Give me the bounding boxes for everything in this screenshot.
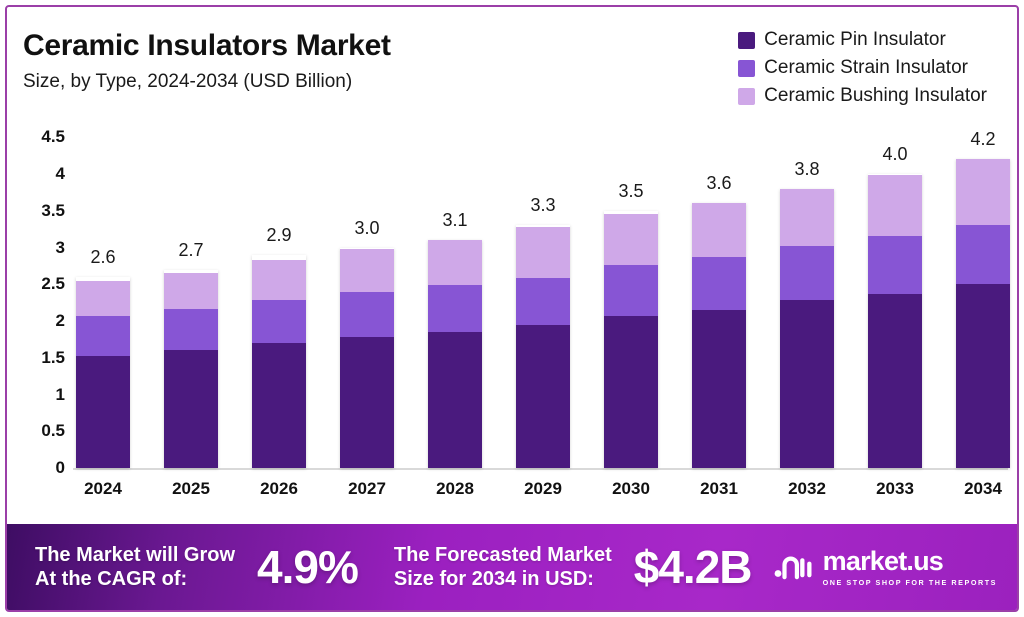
y-axis-tick-label: 4	[9, 164, 65, 184]
bar-total-label: 3.8	[794, 159, 819, 180]
cagr-caption: The Market will Grow At the CAGR of:	[35, 543, 235, 592]
bar-total-label: 4.2	[970, 129, 995, 150]
bar-segment-ceramic-bushing-insulator[interactable]	[428, 240, 482, 285]
bar-segment-ceramic-bushing-insulator[interactable]	[164, 273, 218, 308]
footer-banner: The Market will Grow At the CAGR of: 4.9…	[7, 524, 1017, 610]
legend-item-label: Ceramic Pin Insulator	[764, 29, 946, 51]
bar-total-label: 2.6	[90, 247, 115, 268]
bar-stack[interactable]	[252, 255, 306, 468]
cagr-caption-line2: At the CAGR of:	[35, 567, 235, 591]
bar-total-label: 3.1	[442, 210, 467, 231]
x-axis-tick-label: 2024	[73, 479, 133, 513]
x-axis-tick-label: 2034	[953, 479, 1013, 513]
bar-segment-ceramic-bushing-insulator[interactable]	[780, 189, 834, 246]
market-us-logo[interactable]: market.us ONE STOP SHOP FOR THE REPORTS	[774, 548, 997, 587]
x-axis-tick-label: 2025	[161, 479, 221, 513]
bar-segment-ceramic-strain-insulator[interactable]	[604, 265, 658, 316]
cagr-value: 4.9%	[257, 540, 358, 594]
bar-segment-ceramic-pin-insulator[interactable]	[76, 356, 130, 468]
bar-segment-ceramic-strain-insulator[interactable]	[252, 300, 306, 343]
x-axis-tick-label: 2026	[249, 479, 309, 513]
bar-total-label: 2.9	[266, 225, 291, 246]
bar-stack[interactable]	[868, 174, 922, 468]
bar-segment-ceramic-pin-insulator[interactable]	[780, 300, 834, 468]
bar-segment-ceramic-bushing-insulator[interactable]	[956, 159, 1010, 225]
chart-header: Ceramic Insulators Market Size, by Type,…	[7, 7, 1017, 135]
bar-segment-ceramic-pin-insulator[interactable]	[516, 325, 570, 468]
cagr-caption-line1: The Market will Grow	[35, 543, 235, 567]
bar-segment-ceramic-bushing-insulator[interactable]	[76, 281, 130, 316]
bar-column-2034[interactable]: 4.2	[953, 135, 1013, 468]
y-axis-tick-label: 2	[9, 311, 65, 331]
y-axis-tick-label: 3	[9, 238, 65, 258]
bar-stack[interactable]	[780, 189, 834, 468]
x-axis-line	[73, 468, 1008, 470]
forecast-value: $4.2B	[634, 540, 752, 594]
bar-stack[interactable]	[956, 159, 1010, 468]
bar-stack[interactable]	[164, 270, 218, 468]
bar-segment-ceramic-strain-insulator[interactable]	[692, 257, 746, 310]
y-axis-tick-label: 4.5	[9, 127, 65, 147]
bar-column-2024[interactable]: 2.6	[73, 135, 133, 468]
y-axis-tick-label: 0	[9, 458, 65, 478]
bar-segment-ceramic-pin-insulator[interactable]	[340, 337, 394, 468]
legend-swatch-icon	[738, 88, 755, 105]
bar-total-label: 3.3	[530, 195, 555, 216]
y-axis-tick-label: 0.5	[9, 421, 65, 441]
bar-segment-ceramic-pin-insulator[interactable]	[956, 284, 1010, 468]
bar-column-2029[interactable]: 3.3	[513, 135, 573, 468]
bar-segment-ceramic-pin-insulator[interactable]	[692, 310, 746, 468]
legend-item-label: Ceramic Bushing Insulator	[764, 85, 987, 107]
bar-column-2033[interactable]: 4.0	[865, 135, 925, 468]
bar-segment-ceramic-bushing-insulator[interactable]	[868, 175, 922, 236]
bar-column-2028[interactable]: 3.1	[425, 135, 485, 468]
bar-total-label: 3.0	[354, 218, 379, 239]
bar-segment-ceramic-bushing-insulator[interactable]	[604, 214, 658, 265]
bar-stack[interactable]	[428, 240, 482, 468]
bar-column-2030[interactable]: 3.5	[601, 135, 661, 468]
legend-item-0[interactable]: Ceramic Pin Insulator	[738, 29, 987, 51]
forecast-block: The Forecasted Market Size for 2034 in U…	[394, 540, 752, 594]
bar-stack[interactable]	[516, 225, 570, 468]
legend-swatch-icon	[738, 60, 755, 77]
chart-plot-area: 4.543.532.521.510.50 2.62.72.93.03.13.33…	[7, 135, 1019, 525]
bar-segment-ceramic-strain-insulator[interactable]	[76, 316, 130, 356]
bar-segment-ceramic-strain-insulator[interactable]	[780, 246, 834, 300]
infographic-card: Ceramic Insulators Market Size, by Type,…	[5, 5, 1019, 612]
bar-column-2032[interactable]: 3.8	[777, 135, 837, 468]
legend-item-2[interactable]: Ceramic Bushing Insulator	[738, 85, 987, 107]
bar-segment-ceramic-bushing-insulator[interactable]	[340, 249, 394, 292]
x-axis: 2024202520262027202820292030203120322033…	[73, 479, 1013, 513]
bar-segment-ceramic-strain-insulator[interactable]	[164, 309, 218, 350]
bar-group: 2.62.72.93.03.13.33.53.63.84.04.2	[73, 135, 1013, 468]
bar-stack[interactable]	[76, 277, 130, 468]
bar-total-label: 3.6	[706, 173, 731, 194]
forecast-caption-line2: Size for 2034 in USD:	[394, 567, 612, 591]
bar-segment-ceramic-strain-insulator[interactable]	[516, 278, 570, 326]
bar-stack[interactable]	[692, 203, 746, 468]
y-axis-tick-label: 3.5	[9, 201, 65, 221]
y-axis-tick-label: 1.5	[9, 348, 65, 368]
page-title: Ceramic Insulators Market	[23, 29, 391, 63]
cagr-block: The Market will Grow At the CAGR of: 4.9…	[35, 540, 358, 594]
logo-tagline: ONE STOP SHOP FOR THE REPORTS	[823, 578, 997, 587]
x-axis-tick-label: 2031	[689, 479, 749, 513]
bar-segment-ceramic-strain-insulator[interactable]	[956, 225, 1010, 284]
bar-segment-ceramic-pin-insulator[interactable]	[868, 294, 922, 468]
x-axis-tick-label: 2030	[601, 479, 661, 513]
bar-column-2026[interactable]: 2.9	[249, 135, 309, 468]
market-us-logomark-icon	[774, 549, 814, 586]
legend-swatch-icon	[738, 32, 755, 49]
page-subtitle: Size, by Type, 2024-2034 (USD Billion)	[23, 71, 352, 93]
bar-segment-ceramic-pin-insulator[interactable]	[164, 350, 218, 468]
bar-column-2025[interactable]: 2.7	[161, 135, 221, 468]
bar-segment-ceramic-bushing-insulator[interactable]	[692, 203, 746, 257]
y-axis-tick-label: 2.5	[9, 274, 65, 294]
bar-segment-ceramic-pin-insulator[interactable]	[604, 316, 658, 468]
bar-segment-ceramic-strain-insulator[interactable]	[340, 292, 394, 338]
x-axis-tick-label: 2033	[865, 479, 925, 513]
bar-stack[interactable]	[604, 211, 658, 468]
x-axis-tick-label: 2032	[777, 479, 837, 513]
bar-total-label: 2.7	[178, 240, 203, 261]
bar-segment-ceramic-strain-insulator[interactable]	[868, 236, 922, 293]
x-axis-tick-label: 2029	[513, 479, 573, 513]
chart-legend: Ceramic Pin InsulatorCeramic Strain Insu…	[738, 29, 987, 113]
logo-text: market.us ONE STOP SHOP FOR THE REPORTS	[823, 548, 997, 587]
bar-segment-ceramic-strain-insulator[interactable]	[428, 285, 482, 332]
bar-stack[interactable]	[340, 248, 394, 469]
bar-segment-ceramic-bushing-insulator[interactable]	[516, 227, 570, 278]
legend-item-1[interactable]: Ceramic Strain Insulator	[738, 57, 987, 79]
bar-segment-ceramic-pin-insulator[interactable]	[252, 343, 306, 468]
y-axis-tick-label: 1	[9, 385, 65, 405]
forecast-caption-line1: The Forecasted Market	[394, 543, 612, 567]
y-axis: 4.543.532.521.510.50	[7, 135, 73, 465]
forecast-caption: The Forecasted Market Size for 2034 in U…	[394, 543, 612, 592]
bar-column-2027[interactable]: 3.0	[337, 135, 397, 468]
x-axis-tick-label: 2027	[337, 479, 397, 513]
logo-wordmark: market.us	[823, 548, 997, 575]
bar-total-label: 4.0	[882, 144, 907, 165]
bar-segment-ceramic-pin-insulator[interactable]	[428, 332, 482, 468]
bar-total-label: 3.5	[618, 181, 643, 202]
bar-column-2031[interactable]: 3.6	[689, 135, 749, 468]
x-axis-tick-label: 2028	[425, 479, 485, 513]
legend-item-label: Ceramic Strain Insulator	[764, 57, 968, 79]
bar-segment-ceramic-bushing-insulator[interactable]	[252, 260, 306, 300]
